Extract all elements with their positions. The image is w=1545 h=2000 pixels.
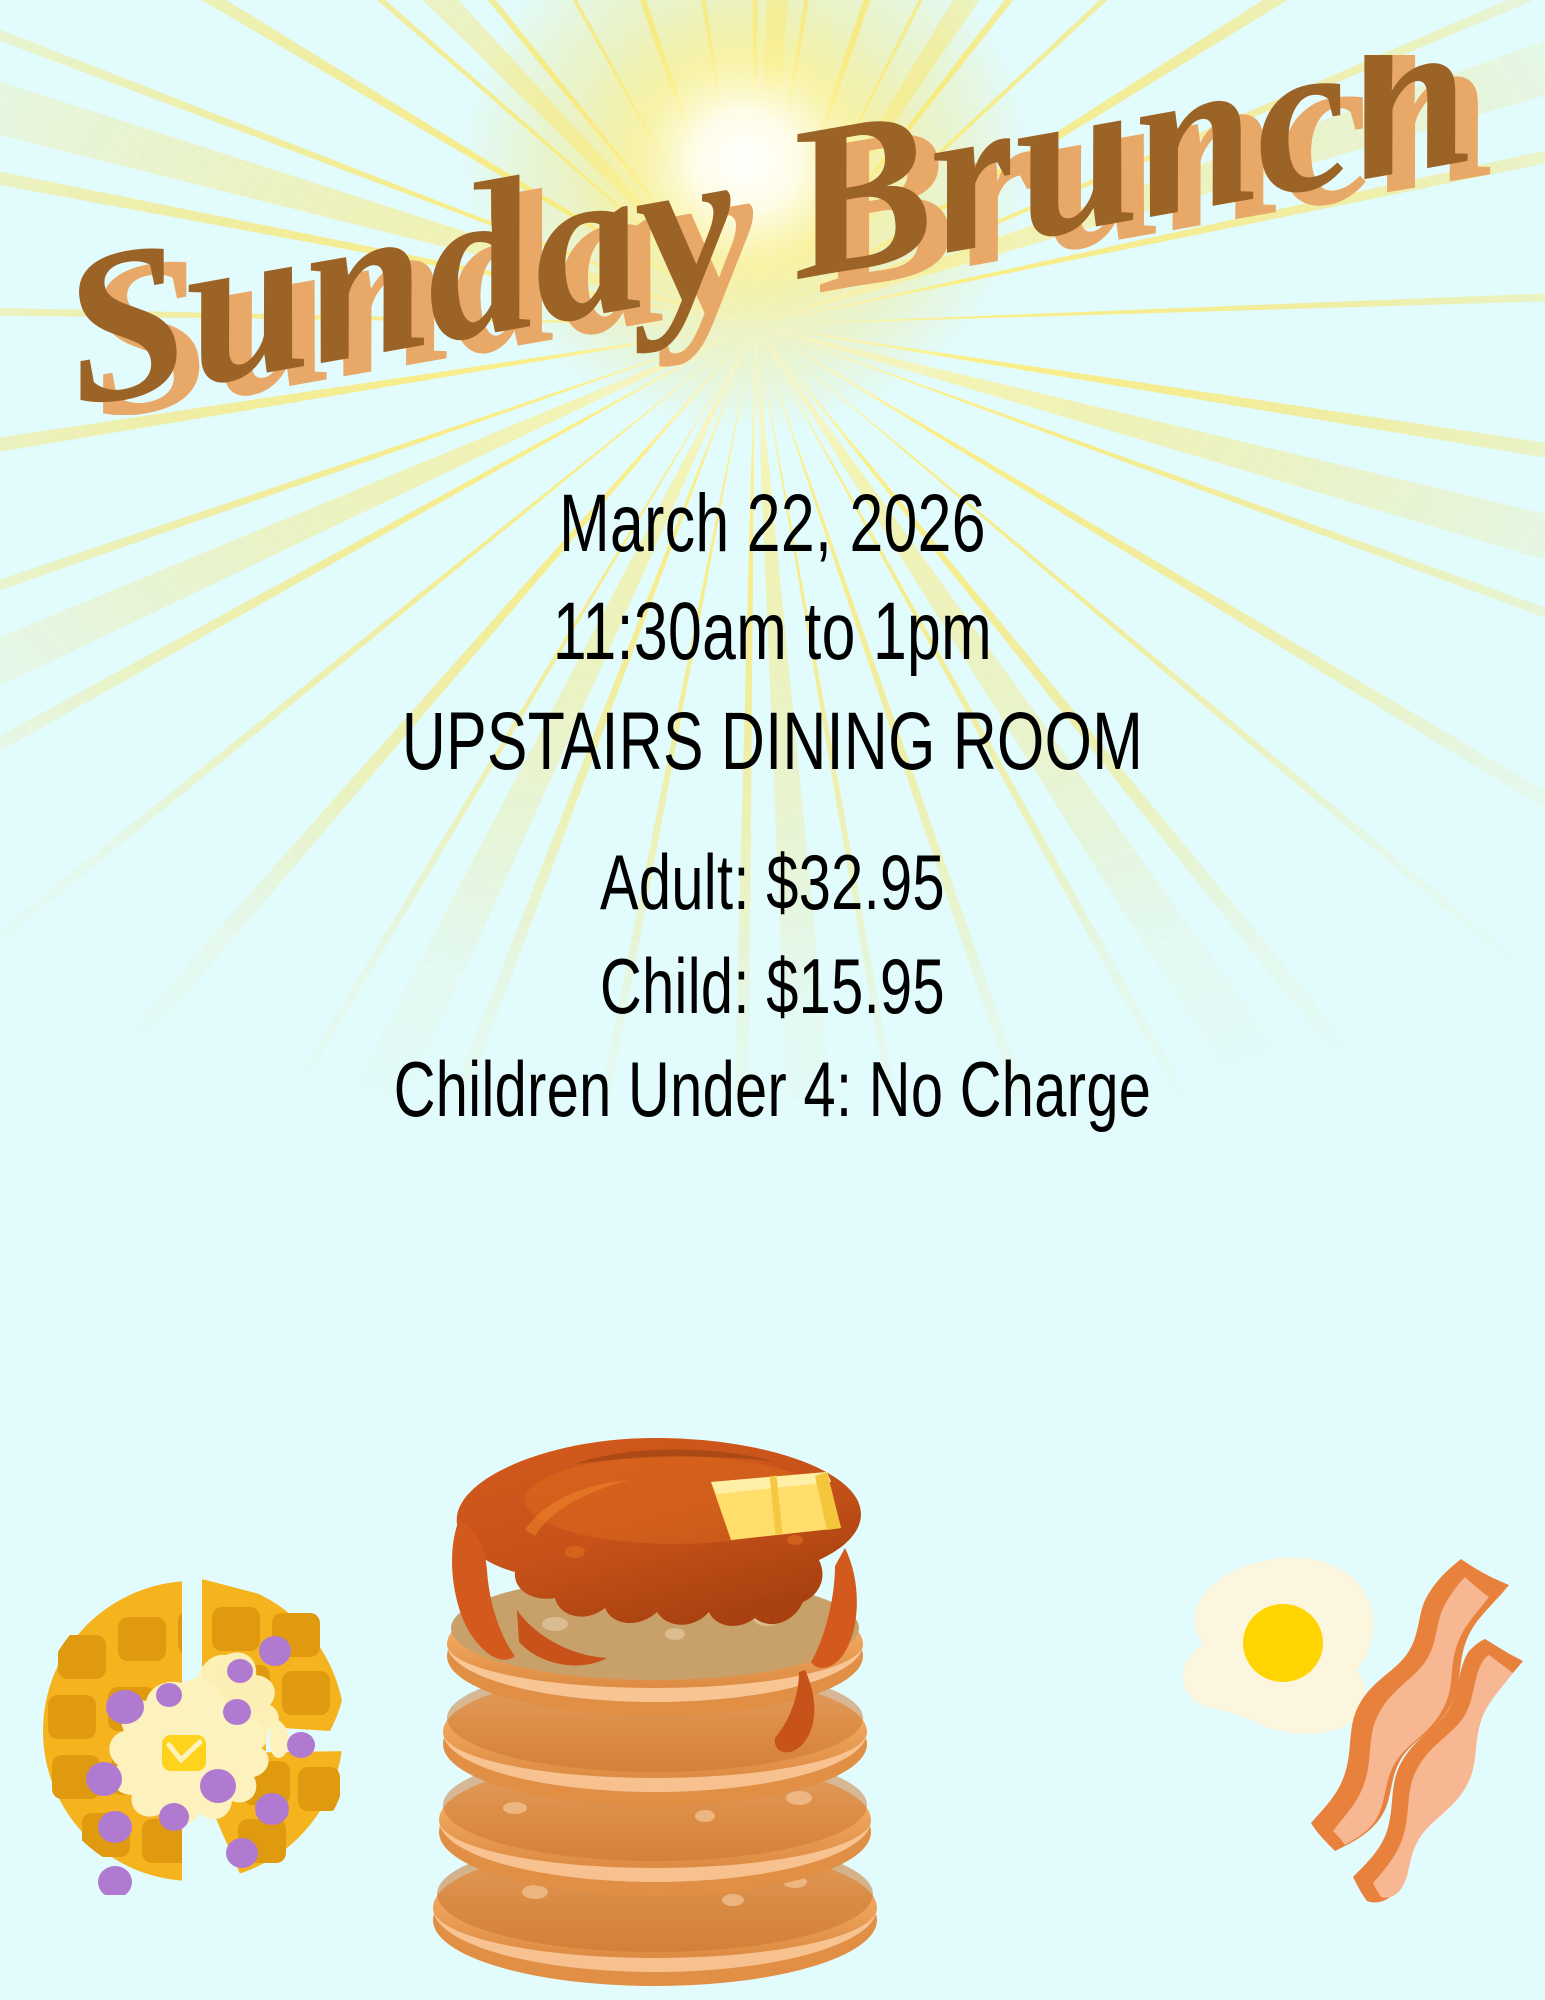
- pancake-layer-top: [447, 1576, 863, 1716]
- egg-and-bacon-icon: [1175, 1555, 1545, 1910]
- poster-title: Sunday Brunch Sunday Brunch: [0, 55, 1545, 415]
- pancake-layer-3: [439, 1749, 871, 1896]
- pancake-butter-pat: [711, 1472, 841, 1540]
- event-details-block: March 22, 2026 11:30am to 1pm UPSTAIRS D…: [0, 478, 1545, 1134]
- pancake-layer-bottom: [433, 1836, 877, 1986]
- event-date: March 22, 2026: [201, 478, 1344, 570]
- event-time: 11:30am to 1pm: [201, 586, 1344, 678]
- syrup-pour: [452, 1438, 861, 1752]
- price-adult: Adult: $32.95: [201, 839, 1344, 926]
- food-illustration-row: [0, 1380, 1545, 2000]
- event-location: UPSTAIRS DINING ROOM: [201, 696, 1344, 788]
- price-child: Child: $15.95: [201, 943, 1344, 1030]
- waffle-butter-pat: [162, 1735, 206, 1771]
- egg-yolk: [1243, 1604, 1323, 1682]
- waffle-icon: [30, 1555, 360, 1895]
- pancake-stack-icon: [375, 1380, 935, 2000]
- title-main-text: Sunday Brunch: [44, 55, 1488, 415]
- waffle-cream: [109, 1680, 268, 1826]
- price-children-under-4: Children Under 4: No Charge: [201, 1046, 1344, 1133]
- bacon-strip-2: [1353, 1639, 1523, 1903]
- pancake-layer-2: [443, 1664, 867, 1806]
- fried-egg-icon: [1183, 1557, 1374, 1734]
- title-shadow-text: Sunday Brunch: [67, 55, 1511, 415]
- sunday-brunch-poster: Sunday Brunch Sunday Brunch March 22, 20…: [0, 0, 1545, 2000]
- bacon-strip-1: [1311, 1559, 1509, 1851]
- waffle-blueberries: [86, 1636, 315, 1895]
